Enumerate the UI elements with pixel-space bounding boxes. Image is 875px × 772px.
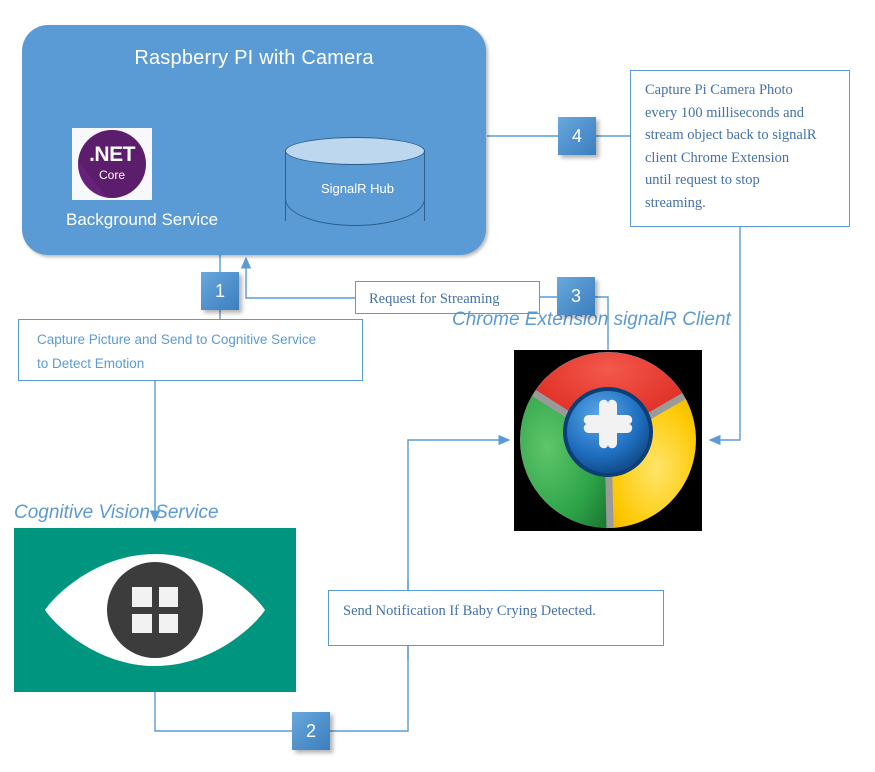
wire-callout4-to-chrome bbox=[710, 227, 740, 440]
callout-line: Request for Streaming bbox=[369, 288, 539, 311]
wire-request-streaming-to-pi bbox=[246, 258, 355, 298]
callout-line: to Detect Emotion bbox=[37, 352, 362, 376]
wire-badge2-to-chrome bbox=[330, 440, 509, 731]
background-service-label: Background Service bbox=[66, 210, 218, 230]
callout-line: until request to stop bbox=[645, 169, 839, 192]
dotnet-core-logo: .NET Core bbox=[72, 128, 152, 200]
callout-line: Capture Picture and Send to Cognitive Se… bbox=[37, 328, 362, 352]
step-badge-4[interactable]: 4 bbox=[558, 117, 596, 155]
callout-line: stream object back to signalR bbox=[645, 124, 839, 147]
callout-capture-picture: Capture Picture and Send to Cognitive Se… bbox=[18, 319, 363, 381]
dotnet-circle-shape: .NET Core bbox=[78, 130, 146, 198]
step-badge-2[interactable]: 2 bbox=[292, 712, 330, 750]
signalr-hub-line1: SignalR bbox=[321, 181, 367, 196]
signalr-hub-line2: Hub bbox=[370, 181, 394, 196]
pupil-grid-icon bbox=[132, 587, 178, 633]
cognitive-vision-eye-logo bbox=[14, 528, 296, 692]
diagram-canvas: Raspberry PI with Camera .NET Core Backg… bbox=[0, 0, 875, 772]
signalr-hub-label: SignalR Hub bbox=[321, 179, 394, 199]
callout-line: streaming. bbox=[645, 192, 839, 215]
pupil-square bbox=[159, 587, 179, 607]
callout-line: every 100 milliseconds and bbox=[645, 102, 839, 125]
cylinder-top-ellipse bbox=[285, 137, 425, 165]
pupil-square bbox=[159, 614, 179, 634]
callout-line: client Chrome Extension bbox=[645, 147, 839, 170]
step-badge-3[interactable]: 3 bbox=[557, 277, 595, 315]
callout-line: Capture Pi Camera Photo bbox=[645, 79, 839, 102]
raspberry-pi-container: Raspberry PI with Camera .NET Core Backg… bbox=[22, 25, 486, 255]
pupil-square bbox=[132, 614, 152, 634]
cylinder-bottom-ellipse bbox=[285, 199, 425, 226]
chrome-extension-puzzle-logo bbox=[514, 350, 702, 531]
dotnet-core-text: Core bbox=[78, 168, 146, 182]
wire-cognitive-to-badge2 bbox=[155, 692, 292, 731]
callout-line: Send Notification If Baby Crying Detecte… bbox=[343, 600, 663, 623]
cognitive-vision-label: Cognitive Vision Service bbox=[14, 502, 219, 524]
dotnet-net-text: .NET bbox=[78, 143, 146, 167]
page-title: Raspberry PI with Camera bbox=[22, 47, 486, 70]
callout-send-notification: Send Notification If Baby Crying Detecte… bbox=[328, 590, 664, 646]
signalr-hub-cylinder: SignalR Hub bbox=[285, 137, 425, 234]
chrome-logo-icon bbox=[514, 350, 702, 531]
step-badge-1[interactable]: 1 bbox=[201, 272, 239, 310]
callout-capture-stream: Capture Pi Camera Photo every 100 millis… bbox=[630, 70, 850, 227]
pupil-square bbox=[132, 587, 152, 607]
